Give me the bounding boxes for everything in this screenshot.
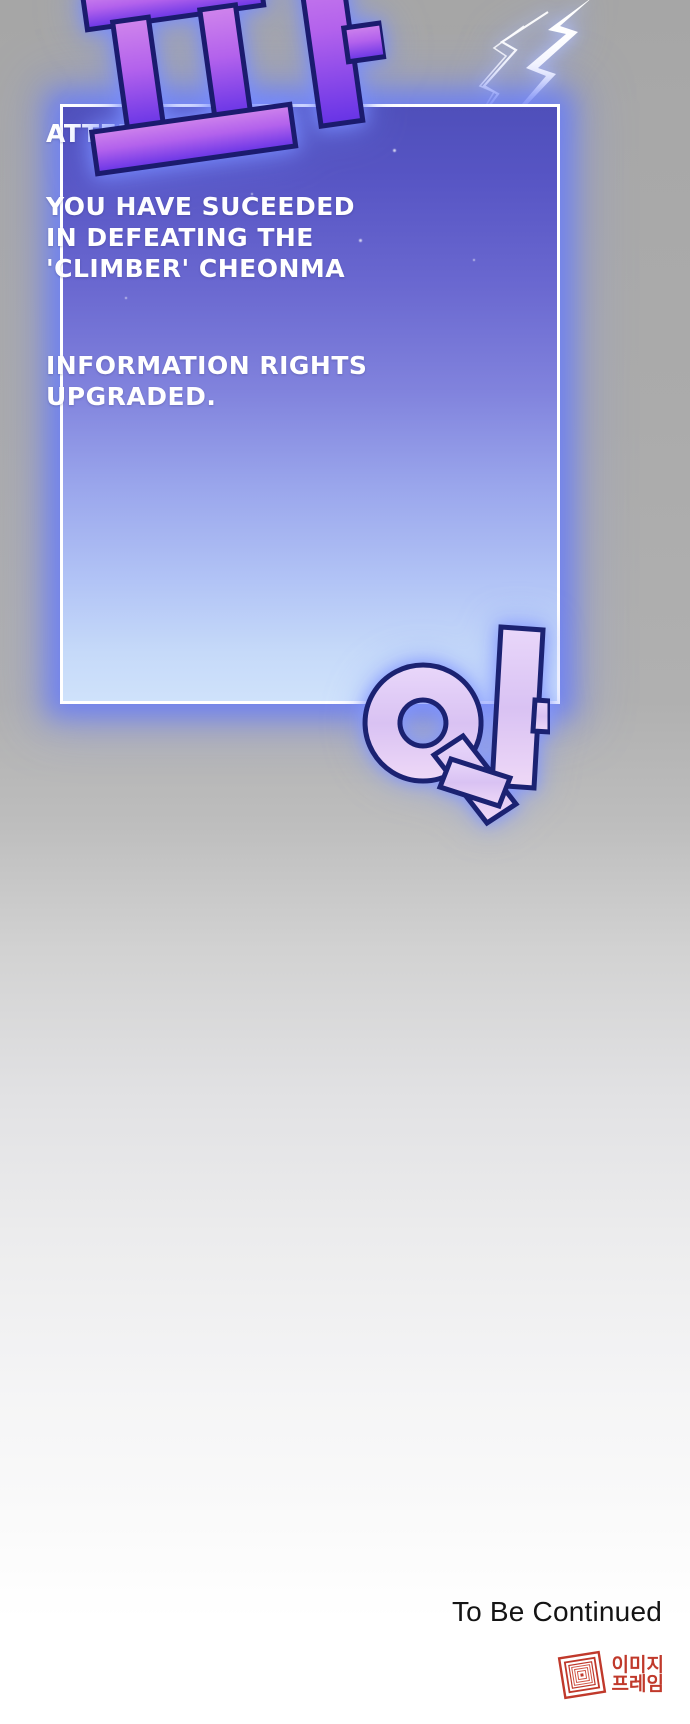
system-footer-line-1: INFORMATION RIGHTS <box>46 350 466 381</box>
publisher-watermark: 이미지 프레임 <box>559 1652 664 1698</box>
brand-name: 이미지 프레임 <box>612 1656 664 1694</box>
sfx-ak-text <box>330 560 550 860</box>
system-body-line-3: 'CLIMBER' CHEONMA <box>46 253 466 284</box>
text-spacer <box>46 284 466 350</box>
comic-page: ATTENTION! YOU HAVE SUCEEDED IN DEFEATIN… <box>0 0 690 1724</box>
system-body-line-2: IN DEFEATING THE <box>46 222 466 253</box>
brand-line-2: 프레임 <box>612 1675 664 1694</box>
to-be-continued-label: To Be Continued <box>452 1596 662 1628</box>
page-footer: To Be Continued 이미지 프레임 <box>0 1596 690 1724</box>
panel-sparkle <box>473 259 475 261</box>
image-frame-logo-icon <box>555 1649 608 1702</box>
system-footer-line-2: UPGRADED. <box>46 381 466 412</box>
